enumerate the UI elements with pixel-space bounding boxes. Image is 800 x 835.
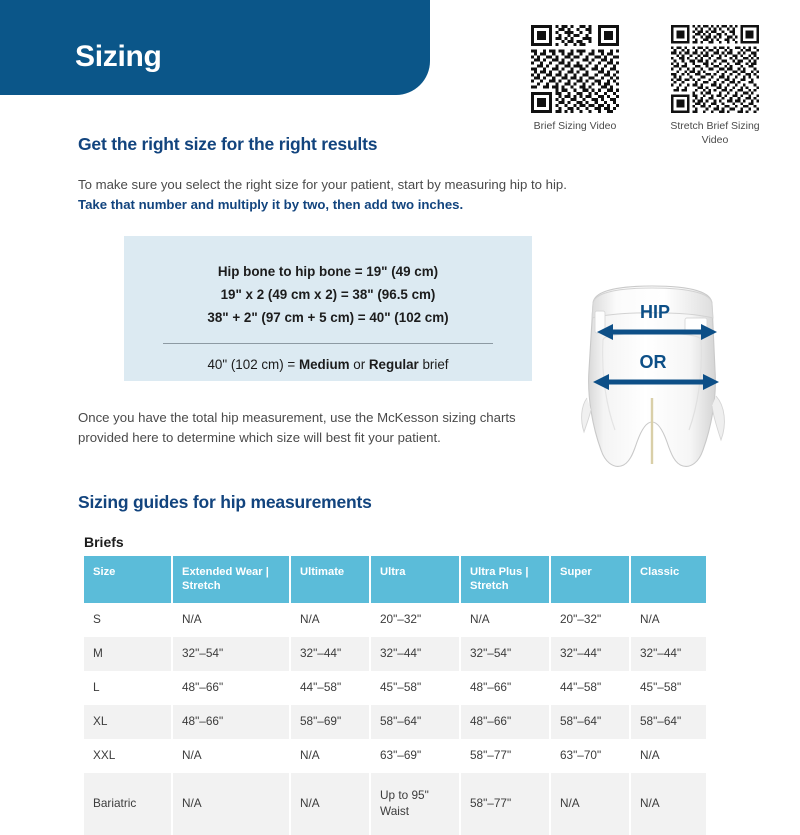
cell-value: Up to 95" Waist [370, 773, 460, 835]
calculation-box: Hip bone to hip bone = 19" (49 cm) 19" x… [124, 236, 532, 381]
cell-value: N/A [630, 739, 706, 773]
cell-size: XXL [84, 739, 172, 773]
cell-size: Bariatric [84, 773, 172, 835]
cell-value: N/A [290, 773, 370, 835]
column-header-ultra[interactable]: Ultra [370, 556, 460, 603]
cell-value: N/A [630, 603, 706, 637]
cell-value: 45"–58" [370, 671, 460, 705]
calc-line-2: 19" x 2 (49 cm x 2) = 38" (96.5 cm) [146, 283, 510, 306]
cell-size: L [84, 671, 172, 705]
column-header-classic[interactable]: Classic [630, 556, 706, 603]
cell-value: N/A [172, 739, 290, 773]
cell-value: N/A [630, 773, 706, 835]
column-header-extended-wear-stretch[interactable]: Extended Wear | Stretch [172, 556, 290, 603]
cell-value: 32"–54" [172, 637, 290, 671]
column-header-ultimate[interactable]: Ultimate [290, 556, 370, 603]
qr-code-icon[interactable] [531, 25, 619, 113]
qr-block-stretch-brief-sizing[interactable]: Stretch Brief Sizing Video [660, 25, 770, 147]
column-header-size[interactable]: Size [84, 556, 172, 603]
table-row: XXL N/A N/A 63"–69" 58"–77" 63"–70" N/A [84, 739, 706, 773]
intro-heading: Get the right size for the right results [78, 134, 377, 155]
qr-block-brief-sizing[interactable]: Brief Sizing Video [520, 25, 630, 147]
qr-caption: Brief Sizing Video [520, 120, 630, 134]
or-label: OR [640, 352, 667, 372]
cell-value: 20"–32" [370, 603, 460, 637]
intro-paragraph-emphasis: Take that number and multiply it by two,… [78, 197, 463, 212]
table-header: Size Extended Wear | Stretch Ultimate Ul… [84, 556, 706, 603]
cell-value: 58"–77" [460, 739, 550, 773]
cell-value: N/A [460, 603, 550, 637]
cell-value: 58"–64" [630, 705, 706, 739]
cell-value: N/A [290, 603, 370, 637]
guides-heading: Sizing guides for hip measurements [78, 492, 372, 513]
calc-result-size: Medium [299, 357, 350, 372]
sizing-table: Size Extended Wear | Stretch Ultimate Ul… [84, 556, 706, 835]
brief-right-cuff [712, 396, 724, 440]
table-row: XL 48"–66" 58"–69" 58"–64" 48"–66" 58"–6… [84, 705, 706, 739]
cell-size: M [84, 637, 172, 671]
cell-value: 48"–66" [172, 705, 290, 739]
cell-value: 58"–77" [460, 773, 550, 835]
column-header-super[interactable]: Super [550, 556, 630, 603]
cell-value: N/A [172, 773, 290, 835]
brief-illustration-icon: HIP OR [565, 278, 740, 476]
cell-value: 45"–58" [630, 671, 706, 705]
cell-size: S [84, 603, 172, 637]
cell-value: 32"–44" [630, 637, 706, 671]
qr-code-row: Brief Sizing Video [520, 25, 790, 147]
table-row: M 32"–54" 32"–44" 32"–44" 32"–54" 32"–44… [84, 637, 706, 671]
product-image: HIP OR [565, 278, 740, 476]
cell-value: 32"–44" [370, 637, 460, 671]
cell-size: XL [84, 705, 172, 739]
calc-result-suffix: brief [419, 357, 449, 372]
second-paragraph: Once you have the total hip measurement,… [78, 408, 548, 449]
hip-label: HIP [640, 302, 670, 322]
table-row: L 48"–66" 44"–58" 45"–58" 48"–66" 44"–58… [84, 671, 706, 705]
column-header-ultra-plus-stretch[interactable]: Ultra Plus | Stretch [460, 556, 550, 603]
qr-caption: Stretch Brief Sizing Video [660, 120, 770, 147]
cell-value: 20"–32" [550, 603, 630, 637]
calc-result-alt-size: Regular [369, 357, 419, 372]
table-label: Briefs [84, 534, 124, 550]
calc-result-middle: or [350, 357, 369, 372]
page-title: Sizing [75, 40, 162, 74]
cell-value: 58"–64" [550, 705, 630, 739]
calc-result: 40" (102 cm) = Medium or Regular brief [146, 357, 510, 372]
table-header-row: Size Extended Wear | Stretch Ultimate Ul… [84, 556, 706, 603]
calc-result-prefix: 40" (102 cm) = [207, 357, 298, 372]
qr-code-icon[interactable] [671, 25, 759, 113]
calc-line-1: Hip bone to hip bone = 19" (49 cm) [146, 260, 510, 283]
cell-value: 32"–44" [550, 637, 630, 671]
cell-value: 63"–69" [370, 739, 460, 773]
cell-value: 44"–58" [550, 671, 630, 705]
cell-value: 48"–66" [172, 671, 290, 705]
cell-value: 58"–64" [370, 705, 460, 739]
cell-value: 48"–66" [460, 705, 550, 739]
intro-paragraph: To make sure you select the right size f… [78, 175, 578, 216]
table-row: S N/A N/A 20"–32" N/A 20"–32" N/A [84, 603, 706, 637]
cell-value: 63"–70" [550, 739, 630, 773]
cell-value: N/A [290, 739, 370, 773]
table-row: Bariatric N/A N/A Up to 95" Waist 58"–77… [84, 773, 706, 835]
cell-value: 32"–54" [460, 637, 550, 671]
calc-divider [163, 343, 493, 344]
cell-value: 58"–69" [290, 705, 370, 739]
header-banner [0, 0, 430, 95]
cell-value: 32"–44" [290, 637, 370, 671]
cell-value: N/A [172, 603, 290, 637]
calc-line-3: 38" + 2" (97 cm + 5 cm) = 40" (102 cm) [146, 306, 510, 329]
cell-value: N/A [550, 773, 630, 835]
cell-value: 48"–66" [460, 671, 550, 705]
intro-paragraph-normal: To make sure you select the right size f… [78, 177, 567, 192]
cell-value: 44"–58" [290, 671, 370, 705]
